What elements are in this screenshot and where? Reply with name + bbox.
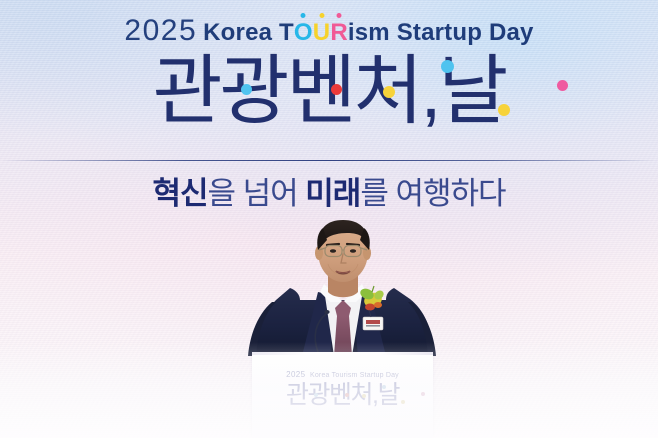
letter-o-glyph: O — [294, 19, 313, 46]
letter-o-dot — [301, 13, 306, 18]
wordmark-dot-4-icon — [441, 60, 454, 73]
screen-panel-seam — [0, 160, 658, 161]
tour-letter-o: O — [294, 21, 313, 45]
podium-top-edge — [252, 352, 433, 355]
podium-dot-6-icon — [421, 392, 425, 396]
event-slogan: 혁신을 넘어 미래를 여행하다 — [0, 178, 658, 209]
tour-letter-u: U — [313, 21, 331, 45]
letter-u-dot — [319, 13, 324, 18]
slogan-part-1: 혁신 — [152, 176, 207, 211]
screenshot-root: 2025Korea TOURism Startup Day 관광벤처,날 혁신을… — [0, 0, 658, 438]
tagline-prefix: Korea T — [203, 19, 294, 46]
slogan-part-2: 을 넘어 — [207, 176, 305, 211]
wordmark-dot-1-icon — [241, 84, 252, 95]
wordmark-dot-3-icon — [383, 86, 395, 98]
event-year: 2025 — [124, 14, 197, 47]
wordmark-dot-6-icon — [557, 80, 568, 91]
tagline-suffix: ism Startup Day — [348, 19, 534, 46]
letter-r-dot — [337, 13, 342, 18]
letter-u-glyph: U — [313, 19, 331, 46]
podium-dot-2-icon — [345, 393, 349, 397]
wordmark-dot-5-icon — [498, 104, 510, 116]
podium-dot-1-icon — [314, 393, 318, 397]
podium-dot-3-icon — [362, 394, 366, 398]
podium-logo: 2025 Korea Tourism Startup Day 관광벤처,날 — [252, 364, 433, 408]
tour-letter-r: R — [330, 21, 348, 45]
podium: 2025 Korea Tourism Startup Day 관광벤처,날 — [252, 352, 433, 438]
wordmark-group: 관광벤처,날 — [153, 54, 506, 130]
wordmark-dot-2-icon — [331, 84, 342, 95]
podium-dot-4-icon — [382, 385, 386, 389]
podium-wordmark-group: 관광벤처,날 — [286, 383, 399, 408]
letter-r-glyph: R — [330, 19, 348, 46]
podium-dot-5-icon — [401, 400, 405, 404]
slogan-part-3: 미래 — [305, 176, 360, 211]
event-tagline: 2025Korea TOURism Startup Day — [124, 16, 533, 46]
podium-tagline: Korea Tourism Startup Day — [310, 372, 399, 379]
screen-header: 2025Korea TOURism Startup Day — [0, 16, 658, 46]
event-tagline-text: Korea TOURism Startup Day — [203, 19, 533, 46]
main-wordmark: 관광벤처,날 — [0, 54, 658, 130]
slogan-part-4: 를 여행하다 — [360, 176, 505, 211]
podium-tagline-row: 2025 Korea Tourism Startup Day — [252, 364, 433, 382]
podium-year: 2025 — [286, 370, 305, 379]
